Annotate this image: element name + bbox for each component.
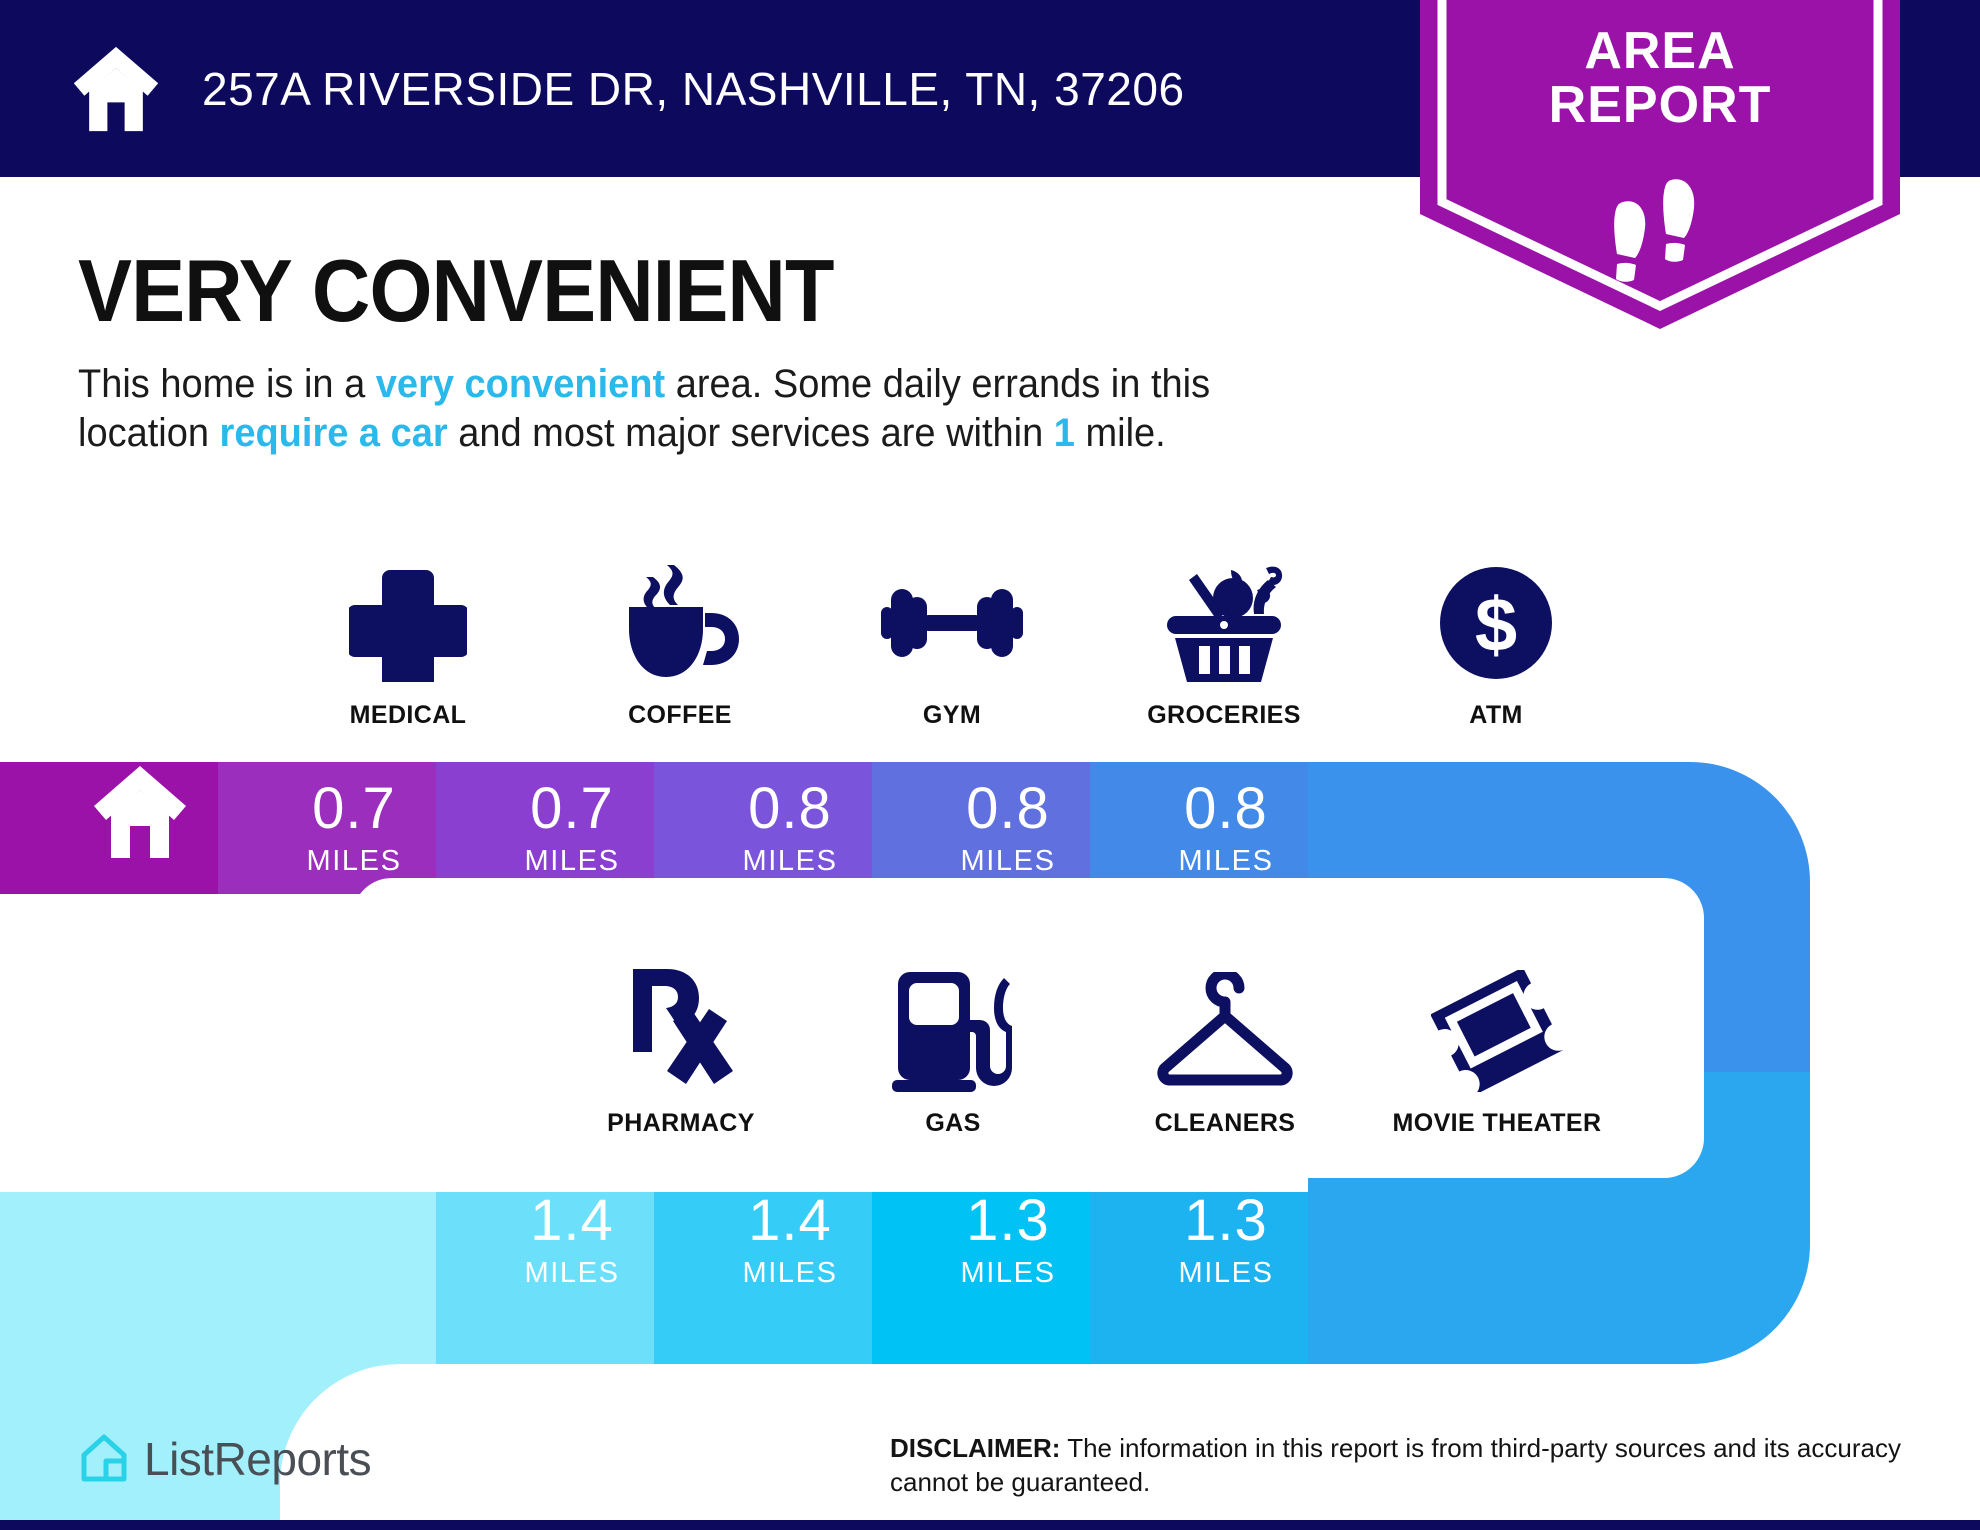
bottom-rule xyxy=(0,1520,1980,1530)
amenity-pharmacy: PHARMACY xyxy=(545,938,817,1138)
gas-pump-icon xyxy=(892,967,1014,1095)
summary-text: This home is in a very convenient area. … xyxy=(78,360,1351,458)
badge-title: AREA REPORT xyxy=(1420,24,1900,132)
amenity-movie-theater: MOVIE THEATER xyxy=(1361,938,1633,1138)
hanger-icon xyxy=(1153,967,1297,1095)
house-logo-icon xyxy=(78,1433,130,1485)
summary-highlight-2: require a car xyxy=(220,411,448,455)
footprints-icon xyxy=(1595,166,1725,286)
distance-value-atm: 0.8 MILES xyxy=(1090,780,1362,876)
amenity-label: MEDICAL xyxy=(350,701,467,730)
amenity-medical: MEDICAL xyxy=(272,530,544,730)
value-number: 0.8 xyxy=(1090,780,1362,838)
dumbbell-icon xyxy=(881,559,1023,687)
home-icon xyxy=(88,762,192,862)
movie-ticket-icon xyxy=(1431,967,1563,1095)
disclaimer-label: DISCLAIMER: xyxy=(890,1433,1060,1463)
summary-part-1: This home is in a xyxy=(78,362,376,406)
svg-text:$: $ xyxy=(1475,583,1517,668)
amenity-cleaners: CLEANERS xyxy=(1089,938,1361,1138)
property-address: 257A RIVERSIDE DR, NASHVILLE, TN, 37206 xyxy=(202,62,1185,116)
distance-value-movie-theater: 1.3 MILES xyxy=(1090,1192,1362,1288)
area-report-badge: AREA REPORT xyxy=(1420,0,1900,334)
amenity-gym: GYM xyxy=(816,530,1088,730)
amenity-atm: $ ATM xyxy=(1360,530,1632,730)
value-unit: MILES xyxy=(1090,847,1362,876)
badge-line-1: AREA xyxy=(1420,24,1900,78)
value-number: 1.3 xyxy=(1090,1192,1362,1250)
amenity-coffee: COFFEE xyxy=(544,530,816,730)
page-title: VERY CONVENIENT xyxy=(78,240,833,342)
home-icon xyxy=(68,43,164,135)
coffee-cup-icon xyxy=(617,559,743,687)
summary-highlight-1: very convenient xyxy=(376,362,665,406)
amenity-label: MOVIE THEATER xyxy=(1393,1109,1602,1138)
amenity-label: COFFEE xyxy=(628,701,732,730)
amenity-icon-row-2: PHARMACY GAS CLEANERS xyxy=(545,938,1635,1138)
badge-line-2: REPORT xyxy=(1420,78,1900,132)
amenity-label: GROCERIES xyxy=(1147,701,1301,730)
amenity-label: GAS xyxy=(925,1109,980,1138)
medical-cross-icon xyxy=(349,559,467,687)
logo-text: ListReports xyxy=(144,1432,371,1486)
value-unit: MILES xyxy=(1090,1259,1362,1288)
summary-part-4: mile. xyxy=(1075,411,1166,455)
disclaimer: DISCLAIMER: The information in this repo… xyxy=(890,1432,1930,1500)
amenity-icon-row-1: MEDICAL COFFEE xyxy=(272,530,1632,730)
amenity-gas: GAS xyxy=(817,938,1089,1138)
grocery-basket-icon xyxy=(1161,559,1287,687)
summary-part-3: and most major services are within xyxy=(448,411,1054,455)
area-report-page: 257A RIVERSIDE DR, NASHVILLE, TN, 37206 … xyxy=(0,0,1980,1530)
dollar-circle-icon: $ xyxy=(1438,559,1554,687)
amenity-label: ATM xyxy=(1469,701,1523,730)
amenity-label: CLEANERS xyxy=(1155,1109,1296,1138)
amenity-groceries: GROCERIES xyxy=(1088,530,1360,730)
rx-icon xyxy=(629,967,733,1095)
amenity-label: PHARMACY xyxy=(607,1109,755,1138)
amenity-label: GYM xyxy=(923,701,981,730)
listreports-logo[interactable]: ListReports xyxy=(78,1432,371,1486)
summary-highlight-3: 1 xyxy=(1054,411,1075,455)
